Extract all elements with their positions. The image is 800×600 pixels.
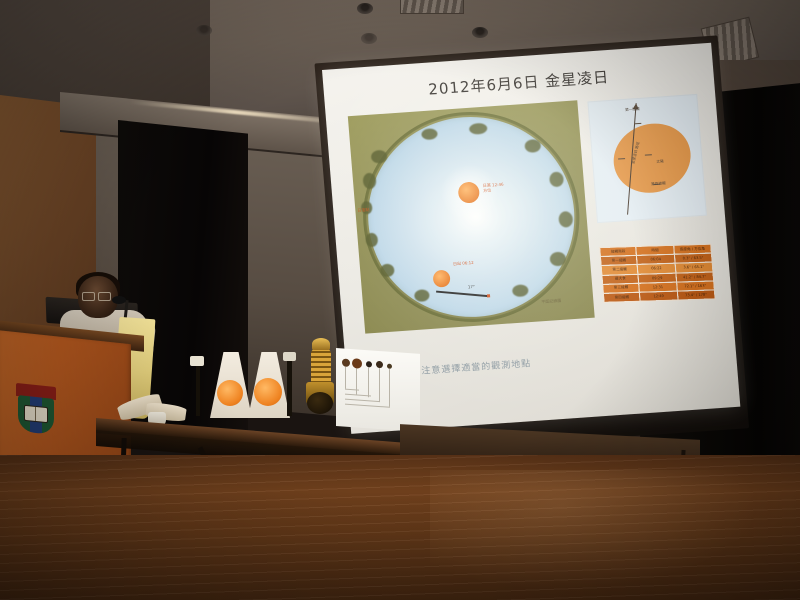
poster-baseline (345, 389, 359, 391)
fisheye-allsky-photo: 日落 12:46 方位 日出 06:12 17° ■ 平面記錄圖 日落點 (348, 100, 595, 333)
brass-orrery-globe (307, 392, 333, 414)
crest-open-book-icon (25, 406, 47, 422)
poster-baseline (345, 404, 390, 408)
planet-sphere (342, 358, 350, 367)
ceiling-downlight (196, 25, 212, 36)
ceiling-downlight (472, 27, 488, 38)
diagram-bottom-label: 第四接觸 (651, 181, 666, 187)
fisheye-left-label: 日落點 (357, 207, 369, 214)
microphone-head (112, 296, 126, 304)
stand-sun-image-1 (217, 380, 243, 406)
diagram-top-label: 第一接觸 (625, 107, 640, 113)
planet-sphere (366, 361, 372, 367)
glasses-lens-right (98, 292, 111, 301)
university-crest (16, 383, 56, 437)
ceiling-downlight (357, 3, 373, 14)
ceiling-vent (400, 0, 464, 14)
table-lamp-post (196, 360, 200, 416)
poster-baseline (345, 399, 380, 402)
glasses-lens-left (82, 292, 95, 301)
sun-label-upper: 日落 12:46 方位 (483, 182, 505, 193)
sun-position-label: ■ (486, 293, 490, 298)
crest-shield (18, 395, 54, 435)
stand-sun-image-2 (254, 378, 282, 406)
transit-timing-table: 接觸階段時間高度角 / 方位角第一接觸06:040.3° / 63.5°第二接觸… (599, 244, 716, 303)
table-cell: 73.4° / 178° (677, 290, 715, 300)
floor-reflection (430, 470, 760, 590)
planet-sphere (352, 358, 362, 369)
poster-wire (379, 368, 380, 402)
poster-wire (368, 367, 369, 397)
ceiling-downlight (361, 33, 377, 44)
fisheye-corner-label: 平面記錄圖 (541, 298, 561, 305)
poster-wire (356, 368, 357, 394)
table-body: 接觸階段時間高度角 / 方位角第一接觸06:040.3° / 63.5°第二接觸… (600, 244, 715, 302)
lecture-hall-photo: 2012年6月6日 金星凌日 日落 12:4 (0, 0, 800, 600)
poster-wire (389, 369, 390, 407)
brass-orrery-top (312, 338, 330, 350)
diagram-tick (634, 123, 641, 124)
diagram-sun-label: 太陽 (656, 159, 664, 164)
angle-label: 17° (468, 284, 475, 289)
poster-wire (345, 367, 346, 389)
solar-system-poster (336, 348, 420, 432)
table-cell: 12:49 (640, 291, 678, 301)
table-lamp-head-2 (283, 352, 296, 361)
transit-path-diagram: 第一接觸 第四接觸 太陽 金星凌日 路徑 (587, 94, 707, 223)
presenter-glasses (82, 292, 110, 299)
table-cell: 第四接觸 (603, 292, 640, 302)
table-lamp-head (190, 356, 204, 366)
table-lamp-post-2 (287, 356, 292, 416)
